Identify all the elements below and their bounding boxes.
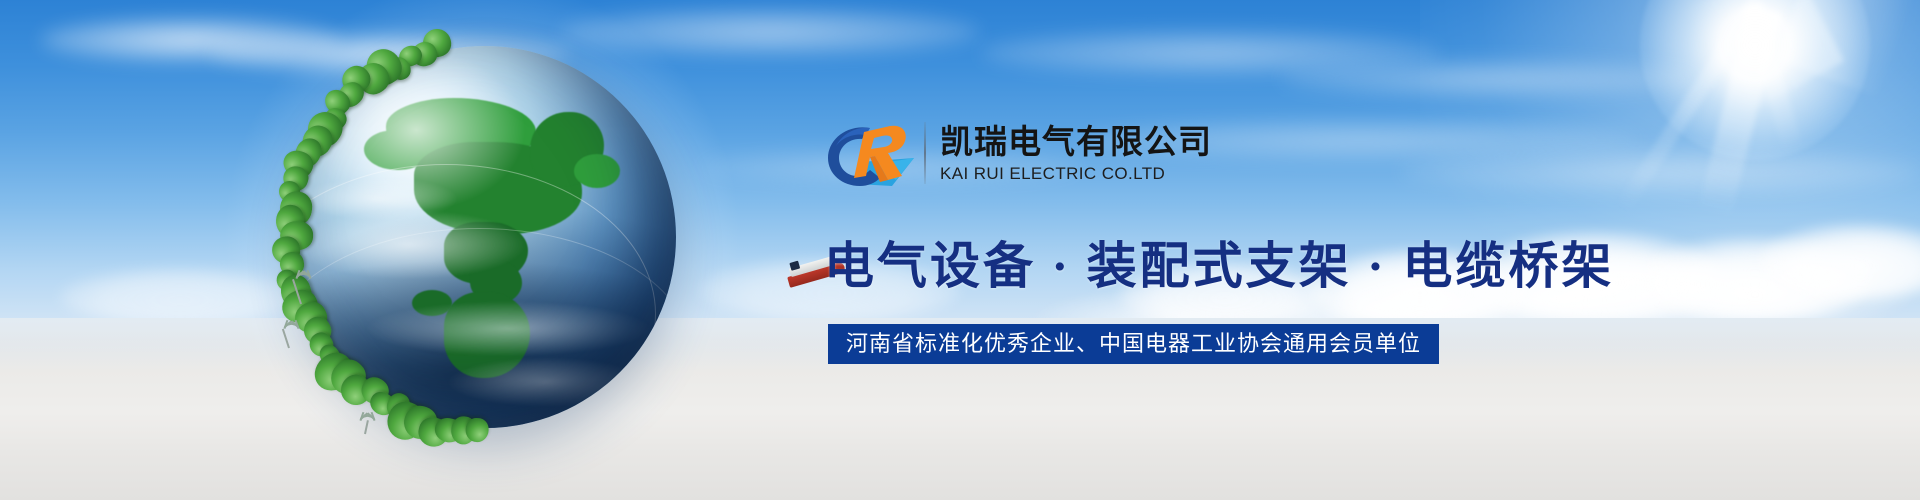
cloud-wisp (1400, 150, 1920, 194)
credentials-badge: 河南省标准化优秀企业、中国电器工业协会通用会员单位 (828, 324, 1439, 364)
eco-globe (272, 28, 692, 448)
brand-lockup: 凯瑞电气有限公司 KAI RUI ELECTRIC CO.LTD (826, 118, 1212, 188)
hero-banner: 凯瑞电气有限公司 KAI RUI ELECTRIC CO.LTD 电气设备 · … (0, 0, 1920, 500)
cloud-wisp (1280, 60, 1700, 98)
company-logo-icon (826, 118, 918, 188)
brand-text: 凯瑞电气有限公司 KAI RUI ELECTRIC CO.LTD (940, 122, 1212, 184)
company-name-en: KAI RUI ELECTRIC CO.LTD (940, 164, 1212, 184)
brand-divider (924, 122, 926, 184)
headline-slogan: 电气设备 · 装配式支架 · 电缆桥架 (824, 236, 1614, 296)
company-name-cn: 凯瑞电气有限公司 (940, 122, 1212, 162)
